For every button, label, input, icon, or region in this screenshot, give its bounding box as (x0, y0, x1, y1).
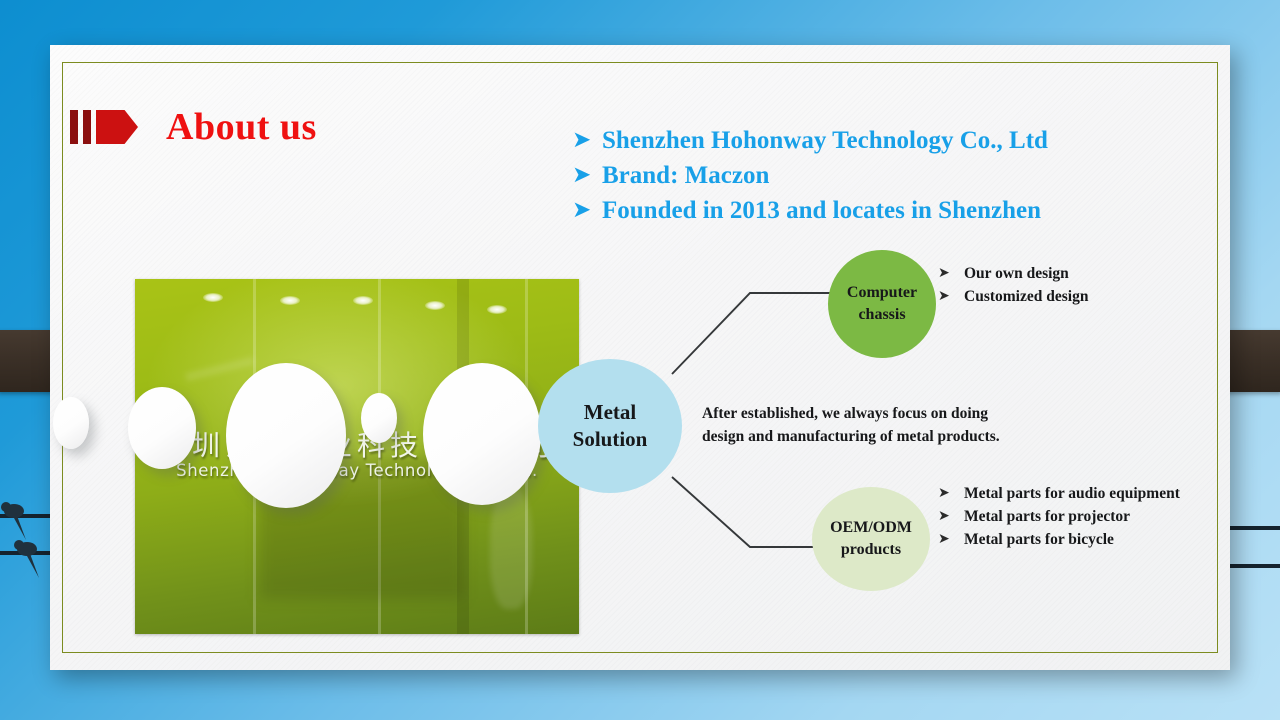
node-computer-chassis: Computer chassis (828, 250, 936, 358)
list-item: ➤ Our own design (938, 263, 1188, 284)
slide-card: About us ➤ Shenzhen Hohonway Technology … (50, 45, 1230, 670)
chevron-bullet-icon: ➤ (938, 506, 964, 527)
chassis-feature-list: ➤ Our own design ➤ Customized design (938, 263, 1188, 309)
list-item: ➤ Metal parts for bicycle (938, 529, 1188, 550)
list-item: ➤ Metal parts for projector (938, 506, 1188, 527)
page-title-block: About us (70, 105, 317, 149)
page-title: About us (166, 105, 317, 149)
bullet-text: Customized design (964, 286, 1088, 307)
node-label: OEM/ODM products (830, 517, 912, 561)
ceiling-light (280, 296, 300, 305)
pebble (226, 363, 346, 508)
oem-feature-list: ➤ Metal parts for audio equipment ➤ Meta… (938, 483, 1188, 552)
pebble (128, 387, 196, 469)
chevron-bullet-icon: ➤ (572, 127, 602, 154)
bullet-text: Metal parts for audio equipment (964, 483, 1180, 504)
bullet-text: Our own design (964, 263, 1069, 284)
node-label-line2: Solution (573, 427, 648, 451)
node-label-line1: OEM/ODM (830, 519, 912, 536)
list-item: ➤ Shenzhen Hohonway Technology Co., Ltd (572, 127, 1048, 155)
list-item: ➤ Brand: Maczon (572, 162, 1048, 190)
pebble (361, 393, 397, 443)
node-label-line2: chassis (858, 306, 905, 323)
glass-reflection (490, 489, 532, 609)
node-label: Computer chassis (847, 282, 917, 326)
chevron-bullet-icon: ➤ (938, 529, 964, 550)
chevron-bullet-icon: ➤ (572, 162, 602, 189)
bullet-text: Metal parts for projector (964, 506, 1130, 527)
node-label-line1: Metal (584, 400, 636, 424)
glass-reflection (185, 357, 255, 382)
bar-1 (70, 110, 78, 144)
bar-2 (83, 110, 91, 144)
list-item: ➤ Metal parts for audio equipment (938, 483, 1188, 504)
ceiling-light (425, 301, 445, 310)
list-item: ➤ Customized design (938, 286, 1188, 307)
company-bullet-list: ➤ Shenzhen Hohonway Technology Co., Ltd … (572, 127, 1048, 232)
bullet-text: Brand: Maczon (602, 162, 769, 190)
ceiling-light (203, 293, 223, 302)
bullet-text: Metal parts for bicycle (964, 529, 1114, 550)
red-arrow-bars-icon (70, 110, 138, 144)
pebble (423, 363, 541, 505)
chevron-bullet-icon: ➤ (938, 263, 964, 284)
node-label-line2: products (841, 541, 901, 558)
node-oem-odm-products: OEM/ODM products (812, 487, 930, 591)
arrow-shape (96, 110, 138, 144)
node-label-line1: Computer (847, 284, 917, 301)
chevron-bullet-icon: ➤ (938, 483, 964, 504)
node-label: Metal Solution (573, 399, 648, 453)
bullet-text: Shenzhen Hohonway Technology Co., Ltd (602, 127, 1048, 155)
node-metal-solution: Metal Solution (538, 359, 682, 493)
list-item: ➤ Founded in 2013 and locates in Shenzhe… (572, 197, 1048, 225)
ceiling-light (353, 296, 373, 305)
bullet-text: Founded in 2013 and locates in Shenzhen (602, 197, 1041, 225)
chevron-bullet-icon: ➤ (938, 286, 964, 307)
chevron-bullet-icon: ➤ (572, 197, 602, 224)
diagram-center-note: After established, we always focus on do… (702, 402, 1002, 448)
ceiling-light (487, 305, 507, 314)
pebble (53, 397, 89, 449)
